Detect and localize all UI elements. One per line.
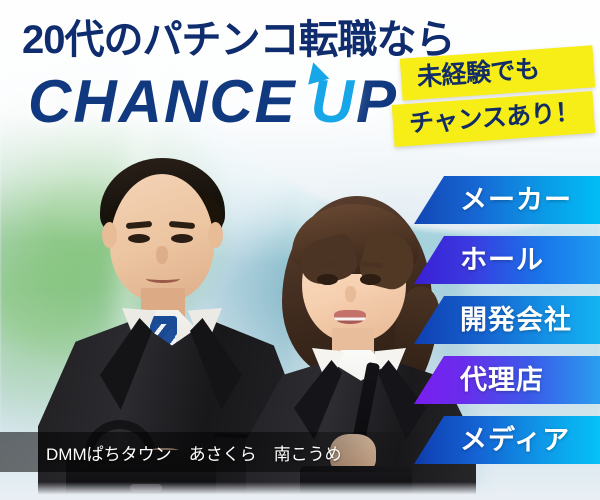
category-label: ホール — [460, 247, 544, 274]
bottom-fade — [0, 482, 600, 500]
woman-eye-left — [317, 274, 338, 285]
category-list: メーカー ホール 開発会社 代理店 メディア — [414, 176, 600, 464]
man-eye-left — [128, 234, 150, 243]
man-ear-right — [208, 222, 223, 248]
badge-line-2: チャンスあり！ — [392, 91, 595, 147]
headline-text: 20代のパチンコ転職なら — [22, 20, 455, 60]
woman-eye-right — [360, 274, 381, 285]
woman-mouth — [334, 310, 366, 324]
man-mouth — [146, 274, 180, 283]
woman-nose — [345, 286, 356, 302]
category-button-hall[interactable]: ホール — [414, 236, 600, 284]
banner-ad[interactable]: 20代のパチンコ転職なら CHANCEUP 未経験でも チャンスあり！ メーカー… — [0, 0, 600, 500]
logo-word-chance: CHANCE — [28, 68, 297, 135]
caption-bar: DMMぱちタウン あさくら 南こうめ — [0, 432, 430, 472]
caption-text: DMMぱちタウン あさくら 南こうめ — [0, 440, 342, 465]
category-button-developer[interactable]: 開発会社 — [414, 296, 600, 344]
category-label: メーカー — [460, 187, 572, 214]
category-button-agency[interactable]: 代理店 — [414, 356, 600, 404]
man-nose — [156, 246, 168, 264]
category-label: 開発会社 — [460, 307, 572, 334]
category-label: 代理店 — [460, 367, 544, 394]
logo-letter-p: P — [356, 68, 398, 135]
category-button-media[interactable]: メディア — [414, 416, 600, 464]
chance-up-logo: CHANCEUP — [28, 72, 398, 132]
logo-word-up: UP — [311, 72, 398, 132]
man-ear-left — [102, 222, 117, 248]
man-eye-right — [171, 234, 193, 243]
category-button-maker[interactable]: メーカー — [414, 176, 600, 224]
status-badge: 未経験でも チャンスあり！ — [401, 52, 594, 140]
category-label: メディア — [460, 427, 570, 454]
